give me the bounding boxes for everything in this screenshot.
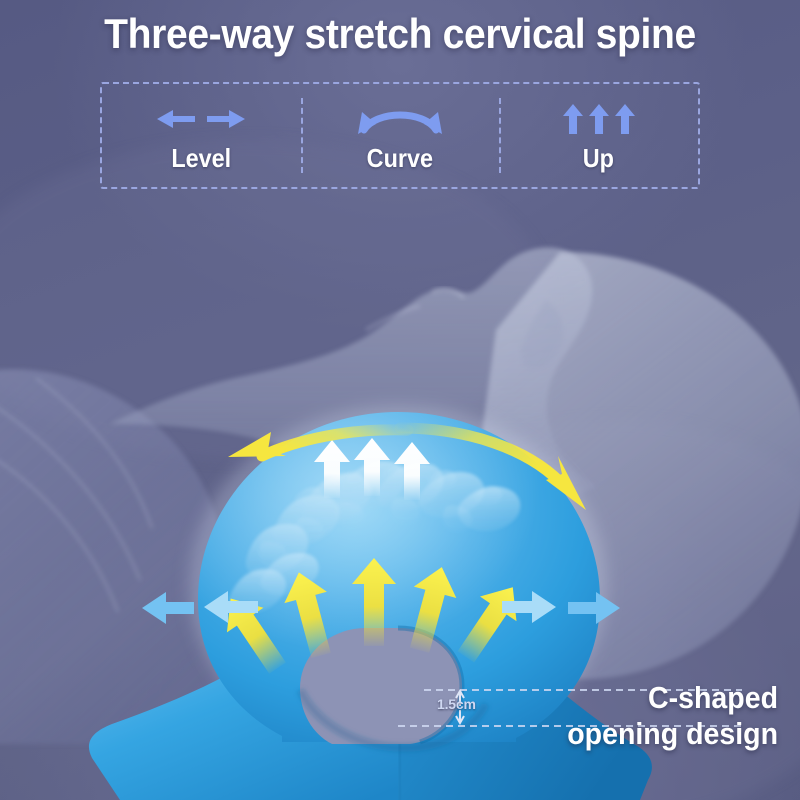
legend-label-curve: Curve bbox=[367, 144, 433, 172]
measurement-label: 1.5cm bbox=[437, 696, 476, 712]
legend-item-up[interactable]: Up bbox=[499, 84, 698, 187]
three-up-arrows-icon bbox=[561, 100, 637, 138]
callout-line-2: opening design bbox=[530, 716, 778, 752]
left-right-arrows-icon bbox=[153, 100, 249, 138]
page-title: Three-way stretch cervical spine bbox=[28, 6, 772, 62]
legend-item-level[interactable]: Level bbox=[102, 84, 301, 187]
upward-lift-arrows bbox=[314, 438, 430, 500]
legend-label-up: Up bbox=[583, 144, 614, 172]
callout-c-shaped-opening: C-shaped opening design bbox=[530, 680, 778, 752]
legend-item-curve[interactable]: Curve bbox=[301, 84, 500, 187]
feature-legend: Level Curve bbox=[100, 82, 700, 189]
infographic-canvas: Three-way stretch cervical spine Level bbox=[0, 0, 800, 800]
legend-label-level: Level bbox=[171, 144, 231, 172]
curved-arch-arrow-icon bbox=[350, 100, 450, 138]
callout-line-1: C-shaped bbox=[530, 680, 778, 716]
